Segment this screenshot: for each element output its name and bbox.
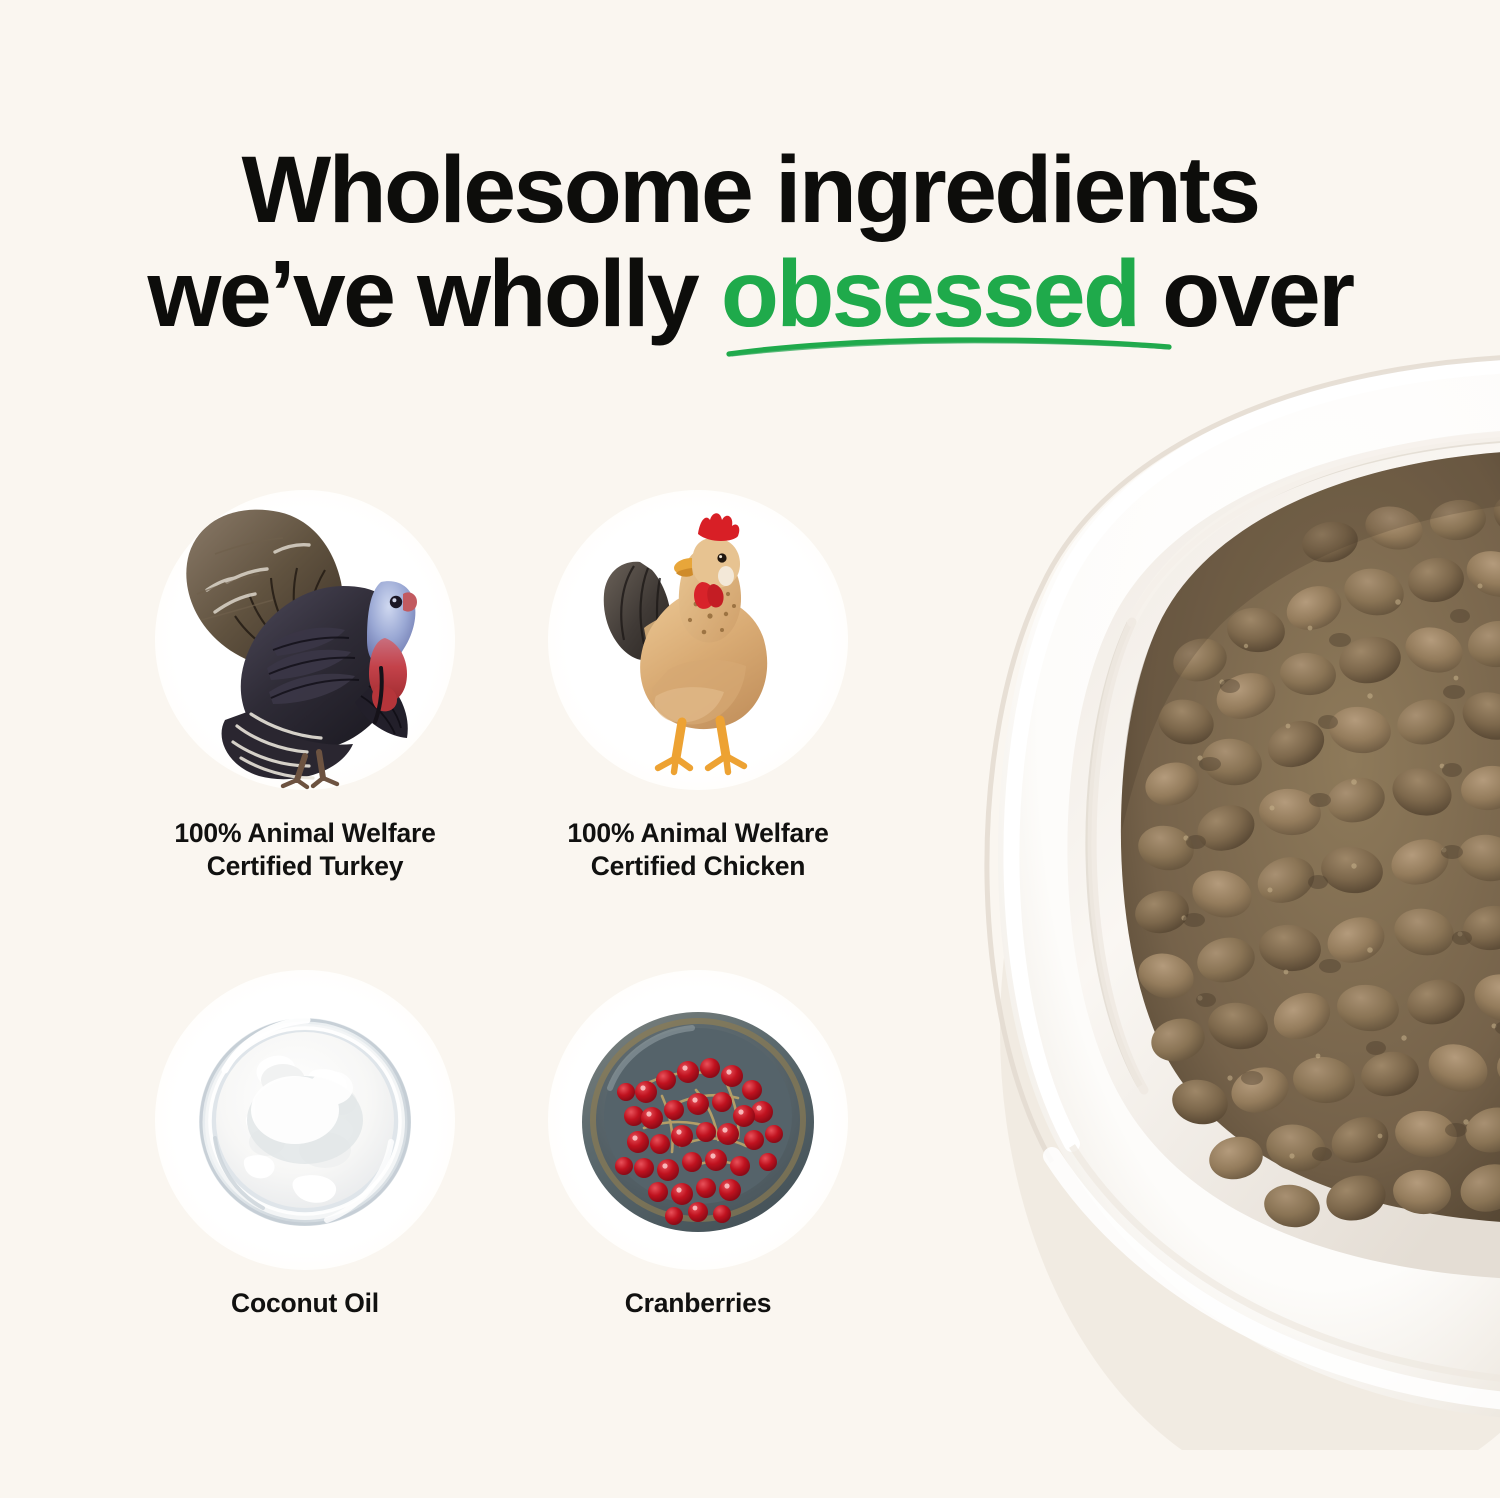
ingredient-item-turkey[interactable]: 100% Animal Welfare Certified Turkey bbox=[155, 490, 455, 790]
ingredient-label-chicken: 100% Animal Welfare Certified Chicken bbox=[508, 817, 888, 883]
ingredient-image-circle-coconut-oil bbox=[155, 970, 455, 1270]
white-bowl-of-kibble-photo bbox=[900, 330, 1500, 1450]
ingredient-grid: 100% Animal Welfare Certified Turkey bbox=[0, 0, 900, 1400]
ingredient-label-line-2: Certified Chicken bbox=[508, 850, 888, 883]
ingredient-label-line-1: Cranberries bbox=[508, 1287, 888, 1320]
ingredient-label-line-1: 100% Animal Welfare bbox=[508, 817, 888, 850]
ingredient-image-circle-turkey bbox=[155, 490, 455, 790]
cranberries-plate-photo bbox=[548, 970, 848, 1270]
ingredient-item-cranberries[interactable]: Cranberries bbox=[548, 970, 848, 1270]
product-feature-panel: Wholesome ingredients we’ve wholly obses… bbox=[0, 0, 1500, 1498]
ingredient-label-line-1: Coconut Oil bbox=[115, 1287, 495, 1320]
ingredient-item-chicken[interactable]: 100% Animal Welfare Certified Chicken bbox=[548, 490, 848, 790]
turkey-photo bbox=[155, 490, 455, 790]
ingredient-label-line-2: Certified Turkey bbox=[115, 850, 495, 883]
ingredient-label-line-1: 100% Animal Welfare bbox=[115, 817, 495, 850]
ingredient-image-circle-cranberries bbox=[548, 970, 848, 1270]
ingredient-label-turkey: 100% Animal Welfare Certified Turkey bbox=[115, 817, 495, 883]
ingredient-image-circle-chicken bbox=[548, 490, 848, 790]
ingredient-label-cranberries: Cranberries bbox=[508, 1287, 888, 1320]
chicken-photo bbox=[548, 490, 848, 790]
ingredient-item-coconut-oil[interactable]: Coconut Oil bbox=[155, 970, 455, 1270]
ingredient-label-coconut-oil: Coconut Oil bbox=[115, 1287, 495, 1320]
coconut-oil-jar-photo bbox=[155, 970, 455, 1270]
